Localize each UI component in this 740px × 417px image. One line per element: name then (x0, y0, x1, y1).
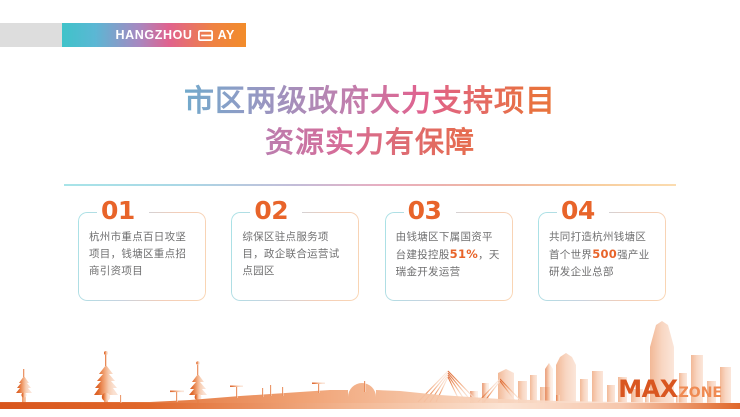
info-card[interactable]: 03 由钱塘区下属国资平台建投控股51%，天瑞金开发运营 (385, 212, 513, 301)
footer-accent-bar (0, 403, 740, 409)
card-text-run: 综保区驻点服务项目，政企联合运营试点园区 (242, 231, 339, 277)
b-box-icon (198, 30, 213, 41)
card-number: 04 (558, 198, 598, 223)
page-title: 市区两级政府大力支持项目 资源实力有保障 (0, 82, 740, 162)
card-body: 共同打造杭州钱塘区首个世界500强产业研发企业总部 (538, 212, 666, 301)
highlighted-figure: 500 (592, 247, 617, 261)
title-line-2: 资源实力有保障 (0, 122, 740, 162)
card-number: 02 (251, 198, 291, 223)
card-number: 03 (405, 198, 445, 223)
card-text: 共同打造杭州钱塘区首个世界500强产业研发企业总部 (549, 229, 656, 281)
slide-canvas: HANGZHOU AY 市区两级政府大力支持项目 资源实力有保障 01 杭州 (0, 0, 740, 417)
brand-gradient-bar: HANGZHOU AY (62, 23, 246, 47)
card-body: 由钱塘区下属国资平台建投控股51%，天瑞金开发运营 (385, 212, 513, 301)
brand-bar: HANGZHOU AY (0, 23, 246, 47)
card-number: 01 (98, 198, 138, 223)
gradient-divider (64, 184, 676, 186)
title-line-1: 市区两级政府大力支持项目 (0, 82, 740, 122)
card-text: 综保区驻点服务项目，政企联合运营试点园区 (242, 229, 349, 280)
card-body: 综保区驻点服务项目，政企联合运营试点园区 (231, 212, 359, 301)
info-card[interactable]: 04 共同打造杭州钱塘区首个世界500强产业研发企业总部 (538, 212, 666, 301)
card-body: 杭州市重点百日攻坚项目，钱塘区重点招商引资项目 (78, 212, 206, 301)
card-text-run: 杭州市重点百日攻坚项目，钱塘区重点招商引资项目 (89, 231, 186, 277)
card-text: 由钱塘区下属国资平台建投控股51%，天瑞金开发运营 (396, 229, 503, 281)
maxzone-logo-zone: ZONE (679, 386, 722, 400)
card-row: 01 杭州市重点百日攻坚项目，钱塘区重点招商引资项目 02 综保区驻点服务项目，… (78, 212, 666, 301)
maxzone-logo: MAX ZONE (618, 377, 722, 401)
grey-block (0, 23, 62, 47)
info-card[interactable]: 01 杭州市重点百日攻坚项目，钱塘区重点招商引资项目 (78, 212, 206, 301)
card-text: 杭州市重点百日攻坚项目，钱塘区重点招商引资项目 (89, 229, 196, 280)
brand-logo-text: HANGZHOU AY (116, 29, 235, 42)
maxzone-logo-max: MAX (618, 377, 677, 401)
brand-word-ay: AY (218, 29, 235, 42)
highlighted-figure: 51% (450, 247, 478, 261)
brand-word-hangzhou: HANGZHOU (116, 29, 193, 42)
info-card[interactable]: 02 综保区驻点服务项目，政企联合运营试点园区 (231, 212, 359, 301)
